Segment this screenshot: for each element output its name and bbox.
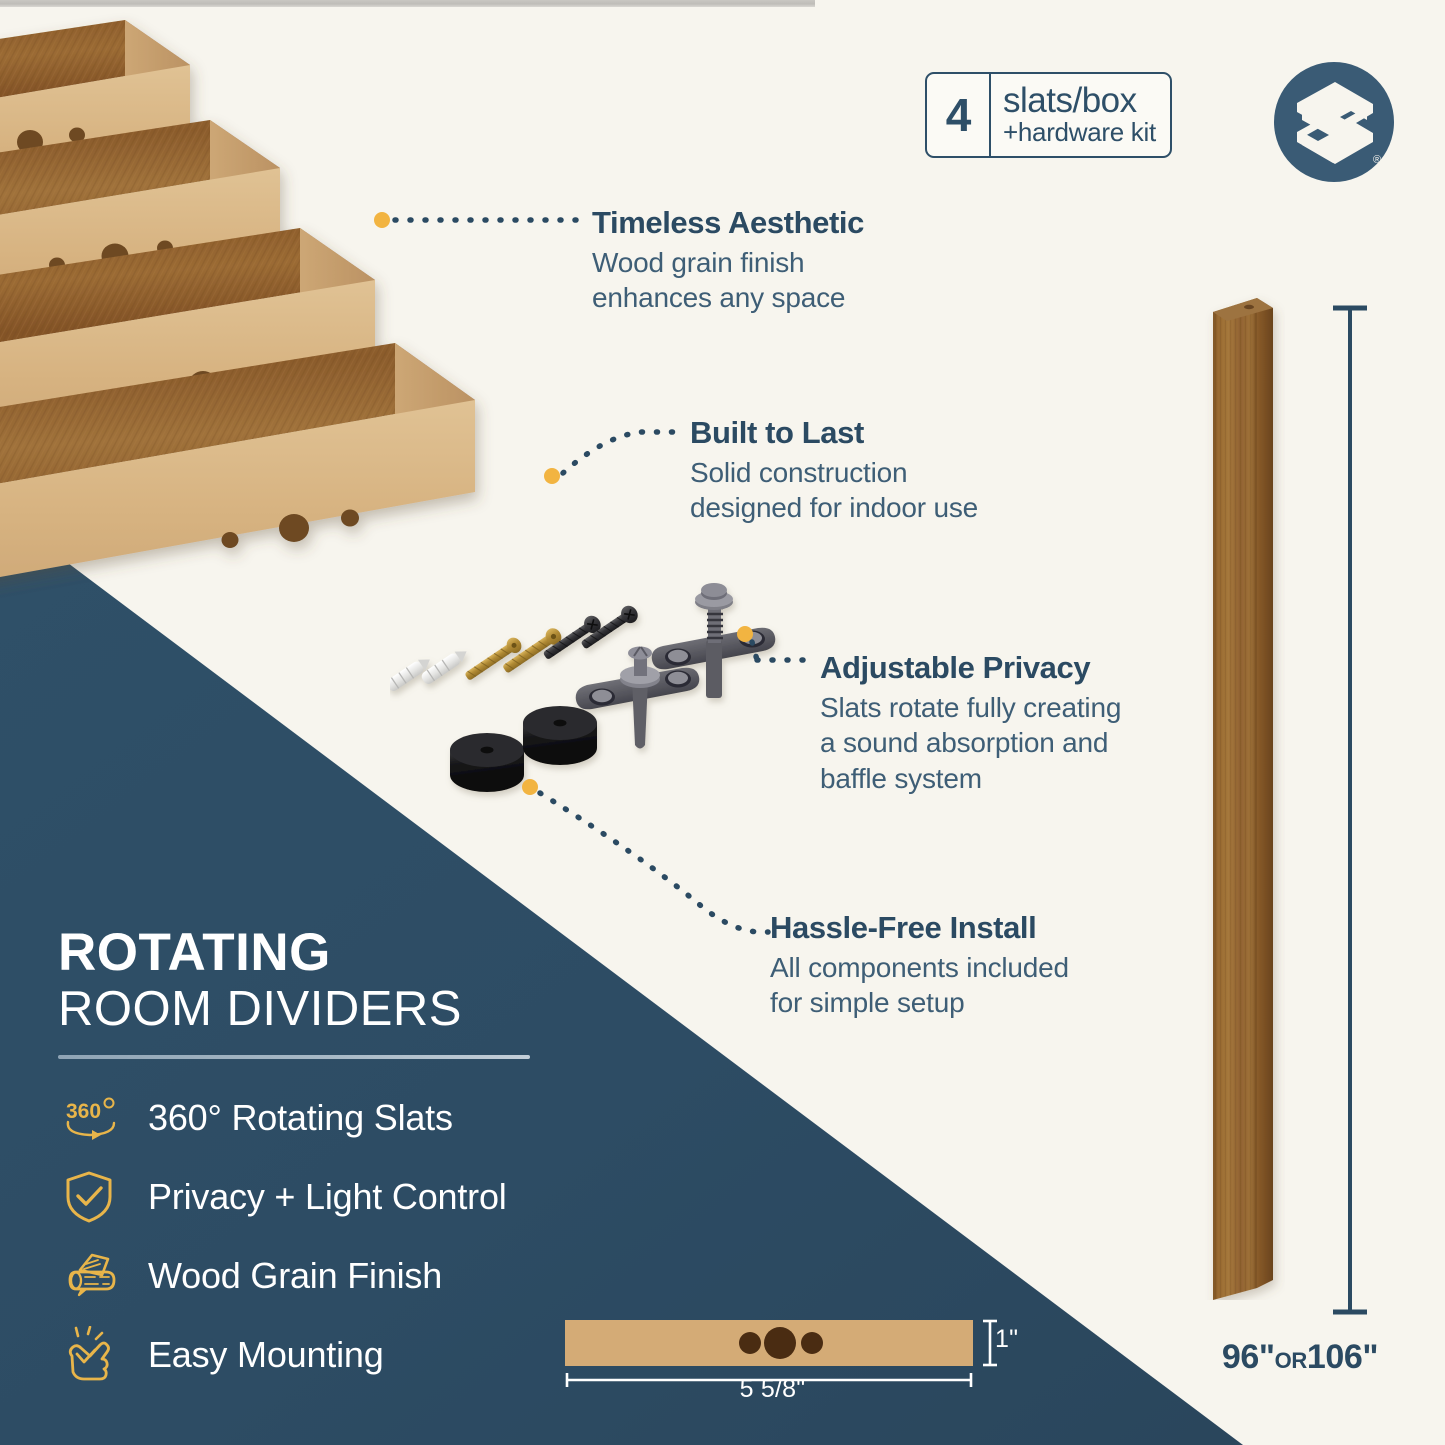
feature-row: Easy Mounting	[62, 1315, 622, 1394]
slat-cross-section-diagram	[565, 1318, 1025, 1428]
product-title-line-2: ROOM DIVIDERS	[58, 982, 598, 1037]
slat-stack-illustration	[0, 10, 630, 650]
product-title-line-1: ROTATING	[58, 925, 598, 980]
svg-text:®: ®	[1373, 154, 1381, 166]
height-dimension-line	[1325, 300, 1375, 1320]
brand-logo-icon: ®	[1272, 60, 1396, 184]
height-first-value: 96"	[1222, 1338, 1275, 1376]
top-accent-band	[0, 0, 815, 7]
product-title-block: ROTATING ROOM DIVIDERS	[58, 925, 598, 1059]
360-rotation-icon: 360	[62, 1094, 148, 1142]
callout-body: All components included for simple setup	[770, 950, 1170, 1021]
hardware-kit-illustration	[390, 580, 810, 815]
badge-line-1: slats/box	[1003, 83, 1156, 118]
callout-body: Slats rotate fully creating a sound abso…	[820, 690, 1220, 797]
callout-title: Adjustable Privacy	[820, 650, 1220, 687]
callout-built-to-last: Built to Last Solid construction designe…	[690, 415, 1120, 526]
feature-label: 360° Rotating Slats	[148, 1097, 453, 1139]
badge-count: 4	[927, 74, 991, 156]
badge-text-group: slats/box +hardware kit	[991, 74, 1170, 156]
callout-timeless-aesthetic: Timeless Aesthetic Wood grain finish enh…	[592, 205, 992, 316]
height-second-value: 106"	[1307, 1338, 1378, 1376]
slats-per-box-badge: 4 slats/box +hardware kit	[925, 72, 1172, 158]
badge-line-2: +hardware kit	[1003, 118, 1156, 148]
shield-check-icon	[62, 1169, 148, 1225]
callout-adjustable-privacy: Adjustable Privacy Slats rotate fully cr…	[820, 650, 1220, 796]
wood-log-icon	[62, 1250, 148, 1302]
slat-width-label: 5 5/8"	[565, 1375, 980, 1404]
hand-tap-icon	[62, 1326, 148, 1384]
infographic-canvas: 4 slats/box +hardware kit ® Timeless Aes…	[0, 0, 1445, 1445]
feature-row: Privacy + Light Control	[62, 1157, 622, 1236]
callout-title: Built to Last	[690, 415, 1120, 452]
callout-body: Solid construction designed for indoor u…	[690, 455, 1120, 526]
callout-title: Timeless Aesthetic	[592, 205, 992, 242]
feature-row: Wood Grain Finish	[62, 1236, 622, 1315]
feature-label: Wood Grain Finish	[148, 1255, 442, 1297]
feature-label: Easy Mounting	[148, 1334, 384, 1376]
height-joiner: OR	[1275, 1348, 1307, 1373]
feature-list: 360 360° Rotating Slats Privacy + Light …	[62, 1078, 622, 1394]
title-divider	[58, 1055, 530, 1059]
svg-text:360: 360	[66, 1100, 101, 1123]
feature-label: Privacy + Light Control	[148, 1176, 507, 1218]
callout-hassle-free-install: Hassle-Free Install All components inclu…	[770, 910, 1170, 1021]
callout-body: Wood grain finish enhances any space	[592, 245, 992, 316]
slat-thickness-label: 1"	[995, 1325, 1018, 1354]
feature-row: 360 360° Rotating Slats	[62, 1078, 622, 1157]
callout-title: Hassle-Free Install	[770, 910, 1170, 947]
slat-height-label: 96"OR106"	[1155, 1338, 1445, 1377]
